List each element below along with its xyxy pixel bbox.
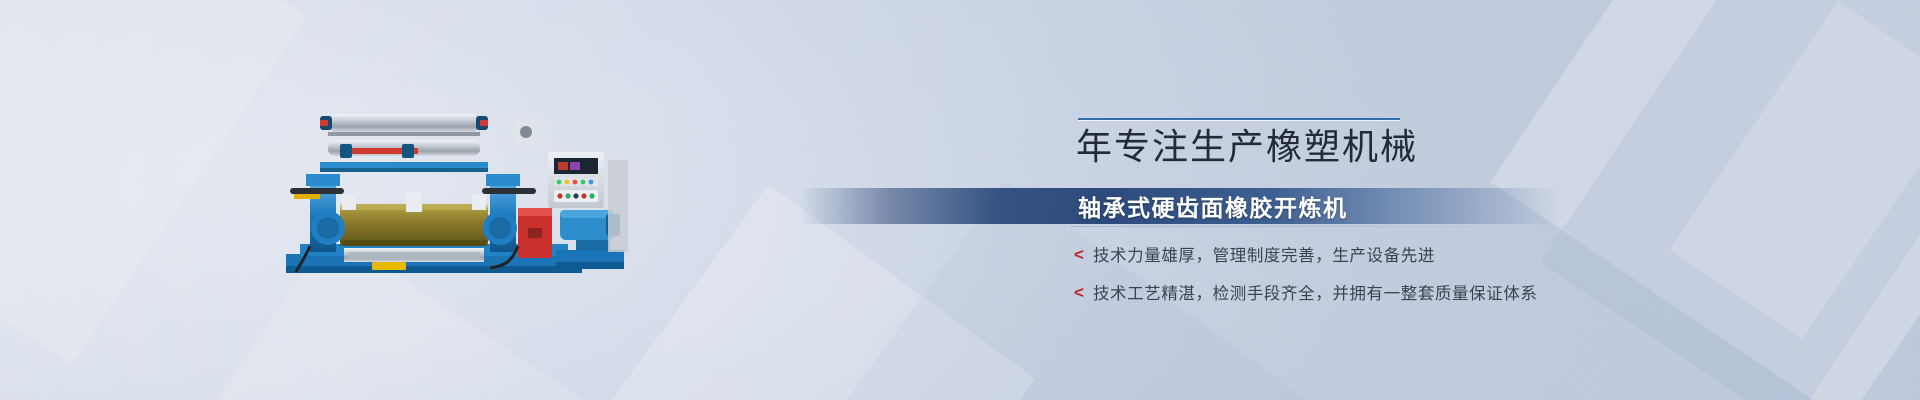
- chevron-left-icon: <: [1074, 246, 1084, 263]
- feature-list: < 技术力量雄厚，管理制度完善，生产设备先进 < 技术工艺精湛，检测手段齐全，并…: [1074, 242, 1538, 318]
- list-item-label: 技术工艺精湛，检测手段齐全，并拥有一整套质量保证体系: [1093, 280, 1538, 304]
- list-item: < 技术力量雄厚，管理制度完善，生产设备先进: [1074, 242, 1538, 266]
- rubber-mill-illustration: [276, 96, 628, 282]
- headline: 年专注生产橡塑机械: [1076, 127, 1760, 168]
- copy-block: 年专注生产橡塑机械 轴承式硬齿面橡胶开炼机 < 技术力量雄厚，管理制度完善，生产…: [1060, 118, 1760, 168]
- chevron-left-icon: <: [1074, 284, 1084, 301]
- promo-banner: 年专注生产橡塑机械 轴承式硬齿面橡胶开炼机 < 技术力量雄厚，管理制度完善，生产…: [0, 0, 1920, 400]
- divider: [1070, 226, 1630, 227]
- subtitle-text: 轴承式硬齿面橡胶开炼机: [1078, 189, 1348, 223]
- list-item-label: 技术力量雄厚，管理制度完善，生产设备先进: [1093, 242, 1435, 266]
- product-photo: [276, 96, 628, 282]
- headline-rule-highlight: [1078, 120, 1400, 121]
- list-item: < 技术工艺精湛，检测手段齐全，并拥有一整套质量保证体系: [1074, 280, 1538, 304]
- subtitle-bar: 轴承式硬齿面橡胶开炼机: [800, 188, 1560, 224]
